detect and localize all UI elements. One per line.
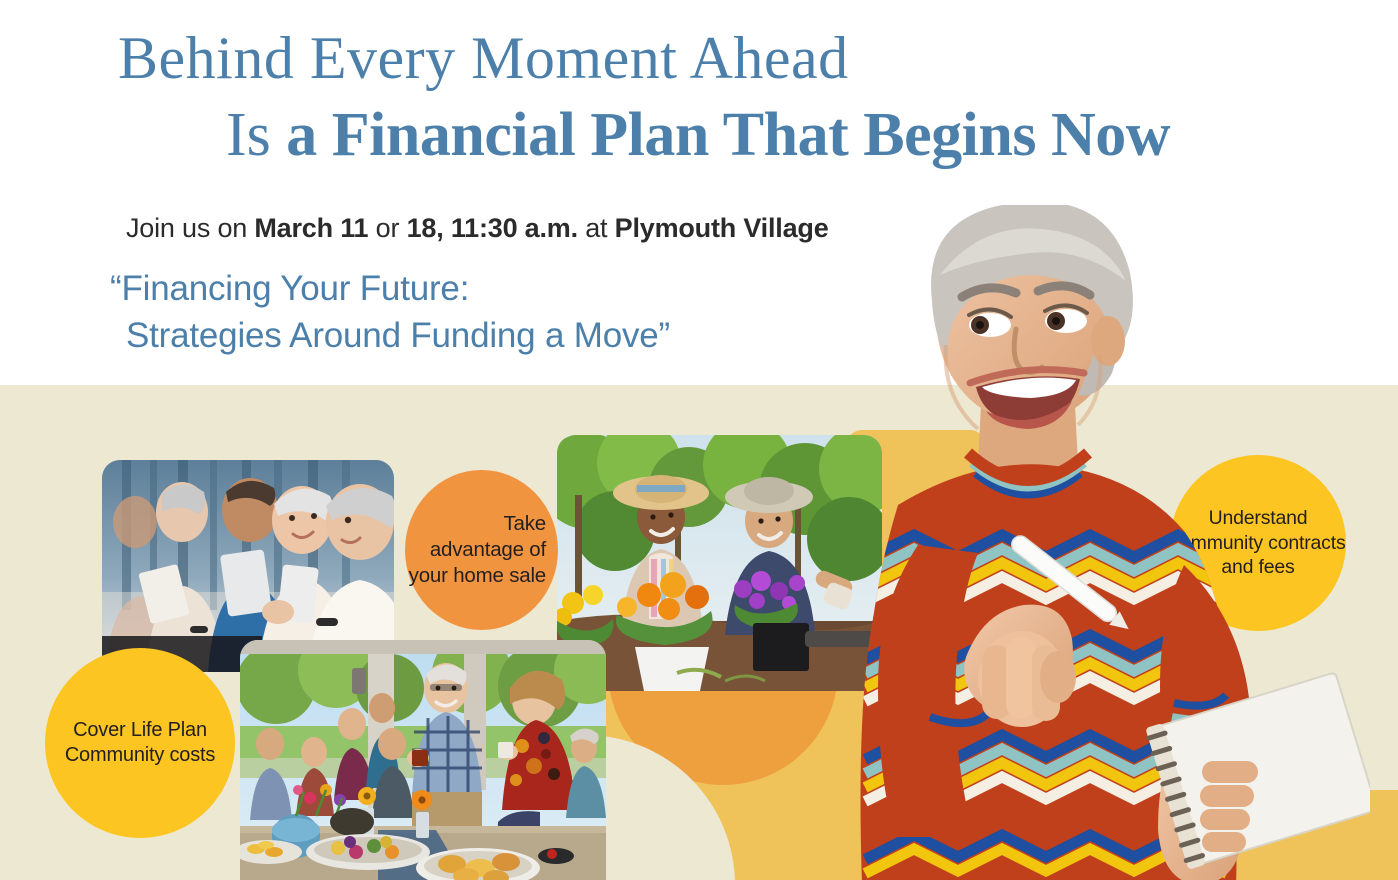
headline-line-2-bold: a Financial Plan That Begins Now [286, 101, 1170, 169]
photo-gardening-pair [557, 435, 882, 691]
callout-understand-contracts-fees: Understand community contracts and fees [1170, 455, 1346, 631]
subhead-date-2-time: 18, 11:30 a.m. [407, 213, 578, 243]
topic-line-1: “Financing Your Future: [110, 266, 670, 313]
subhead-part-1: Join us on [126, 213, 254, 243]
topic-line-2: Strategies Around Funding a Move” [110, 313, 670, 360]
subhead-venue: Plymouth Village [615, 213, 829, 243]
subhead-date-1: March 11 [254, 213, 368, 243]
callout-cover-text: Cover Life Plan Community costs [45, 718, 235, 768]
photo-patio-gathering [240, 640, 606, 880]
headline-line-1: Behind Every Moment Ahead [118, 28, 1308, 88]
callout-cover-life-plan-costs: Cover Life Plan Community costs [45, 648, 235, 838]
poster-canvas: Behind Every Moment Ahead Is a Financial… [0, 0, 1398, 880]
decor-gold-lower-right-shape [1120, 790, 1398, 880]
callout-home-text: Take advantage of your home sale [405, 511, 546, 588]
event-subhead: Join us on March 11 or 18, 11:30 a.m. at… [126, 213, 829, 244]
callout-take-advantage-home-sale: Take advantage of your home sale [405, 470, 558, 630]
subhead-part-3: or [368, 213, 406, 243]
seminar-topic-title: “Financing Your Future: Strategies Aroun… [110, 266, 670, 359]
headline-line-2-light: Is [226, 101, 286, 169]
callout-understand-text: Understand community contracts and fees [1170, 506, 1346, 580]
headline-line-2: Is a Financial Plan That Begins Now [118, 104, 1308, 166]
headline: Behind Every Moment Ahead Is a Financial… [118, 28, 1308, 166]
subhead-part-5: at [578, 213, 615, 243]
